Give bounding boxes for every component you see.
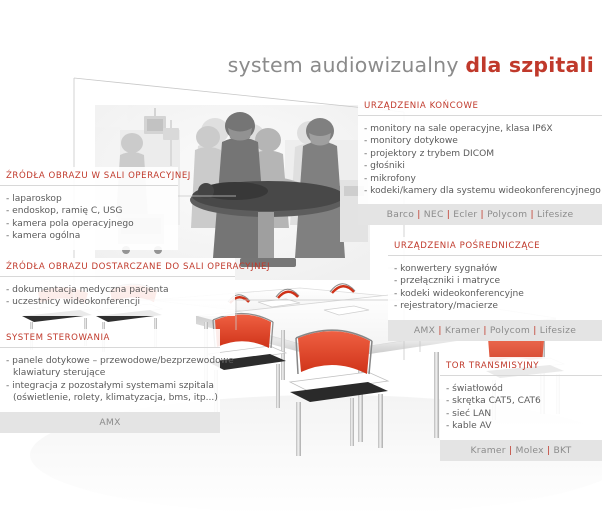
brand-separator: | (414, 209, 424, 220)
list-item: - laparoskop (6, 193, 172, 205)
list-item: - kamera pola operacyjnego (6, 218, 172, 230)
list-item: - projektory z trybem DICOM (364, 148, 596, 160)
brand-name: Lifesize (540, 325, 576, 336)
infographic-canvas: system audiowizualny dla szpitali URZĄDZ… (0, 0, 602, 513)
list-item: - uczestnicy wideokonferencji (6, 296, 229, 308)
brand-name: Polycom (490, 325, 530, 336)
panel-tor-transmisyjny: TOR TRANSMISYJNY - światłowód - skrętka … (440, 357, 602, 461)
panel-urzadzenia-posredniczace: URZĄDZENIA POŚREDNICZĄCE - konwertery sy… (388, 237, 602, 341)
brand-separator: | (530, 325, 540, 336)
panel-title: TOR TRANSMISYJNY (440, 357, 602, 376)
panel-title: URZĄDZENIA POŚREDNICZĄCE (388, 237, 602, 256)
brand-bar: Kramer | Molex | BKT (440, 440, 602, 461)
panel-item-list: - dokumentacja medyczna pacjenta - uczes… (0, 277, 235, 316)
brand-separator: | (527, 209, 537, 220)
brand-name: Kramer (471, 445, 506, 456)
brand-separator: | (506, 445, 516, 456)
list-item: - endoskop, ramię C, USG (6, 205, 172, 217)
brand-name: AMX (99, 417, 120, 428)
list-item: - konwertery sygnałów (394, 263, 596, 275)
list-item: - panele dotykowe – przewodowe/bezprzewo… (6, 355, 214, 367)
list-item: klawiatury sterujące (6, 367, 214, 379)
panel-zrodla-obrazu-w-sali: ŹRÓDŁA OBRAZU W SALI OPERACYJNEJ - lapar… (0, 167, 178, 250)
panel-item-list: - światłowód - skrętka CAT5, CAT6 - sieć… (440, 376, 602, 440)
list-item: - integracja z pozostałymi systemami szp… (6, 380, 214, 392)
brand-separator: | (435, 325, 445, 336)
list-item: - kodeki wideokonferencyjne (394, 288, 596, 300)
list-item: - kable AV (446, 420, 596, 432)
panel-urzadzenia-koncowe: URZĄDZENIA KOŃCOWE - monitory na sale op… (358, 97, 602, 225)
brand-name: AMX (414, 325, 435, 336)
brand-separator: | (444, 209, 454, 220)
panel-title: ŹRÓDŁA OBRAZU W SALI OPERACYJNEJ (0, 167, 178, 186)
list-item: - kamera ogólna (6, 230, 172, 242)
list-item: - rejestratory/macierze (394, 300, 596, 312)
list-item: - głośniki (364, 160, 596, 172)
brand-separator: | (477, 209, 487, 220)
panel-item-list: - monitory na sale operacyjne, klasa IP6… (358, 116, 602, 204)
list-item: - monitory dotykowe (364, 135, 596, 147)
page-title: system audiowizualny dla szpitali (228, 53, 594, 77)
panel-zrodla-obrazu-dostarczane: ŹRÓDŁA OBRAZU DOSTARCZANE DO SALI OPERAC… (0, 258, 235, 316)
panel-system-sterowania: SYSTEM STEROWANIA - panele dotykowe – pr… (0, 329, 220, 433)
brand-separator: | (480, 325, 490, 336)
panel-title: URZĄDZENIA KOŃCOWE (358, 97, 602, 116)
list-item: - kodeki/kamery dla systemu wideokonfere… (364, 185, 596, 197)
brand-bar: AMX | Kramer | Polycom | Lifesize (388, 320, 602, 341)
brand-name: Lifesize (537, 209, 573, 220)
panel-item-list: - laparoskop - endoskop, ramię C, USG - … (0, 186, 178, 250)
panel-title: SYSTEM STEROWANIA (0, 329, 220, 348)
list-item: (oświetlenie, rolety, klimatyzacja, bms,… (6, 392, 214, 404)
brand-bar: AMX (0, 412, 220, 433)
brand-name: Molex (516, 445, 544, 456)
list-item-continuation: klawiatury sterujące (6, 367, 214, 379)
list-item: - sieć LAN (446, 408, 596, 420)
panel-title: ŹRÓDŁA OBRAZU DOSTARCZANE DO SALI OPERAC… (0, 258, 235, 277)
title-normal: system audiowizualny (228, 53, 466, 77)
list-item: - światłowód (446, 383, 596, 395)
list-item: - monitory na sale operacyjne, klasa IP6… (364, 123, 596, 135)
brand-name: Kramer (445, 325, 480, 336)
list-item: - przełączniki i matryce (394, 275, 596, 287)
brand-name: Barco (387, 209, 414, 220)
brand-name: Polycom (487, 209, 527, 220)
list-item: - skrętka CAT5, CAT6 (446, 395, 596, 407)
brand-name: Ecler (453, 209, 477, 220)
brand-name: BKT (553, 445, 571, 456)
list-item-continuation: (oświetlenie, rolety, klimatyzacja, bms,… (6, 392, 214, 404)
brand-name: NEC (424, 209, 444, 220)
list-item: - dokumentacja medyczna pacjenta (6, 284, 229, 296)
title-bold: dla szpitali (465, 53, 594, 77)
list-item: - mikrofony (364, 173, 596, 185)
panel-item-list: - panele dotykowe – przewodowe/bezprzewo… (0, 348, 220, 412)
brand-bar: Barco | NEC | Ecler | Polycom | Lifesize (358, 204, 602, 225)
panel-item-list: - konwertery sygnałów - przełączniki i m… (388, 256, 602, 320)
